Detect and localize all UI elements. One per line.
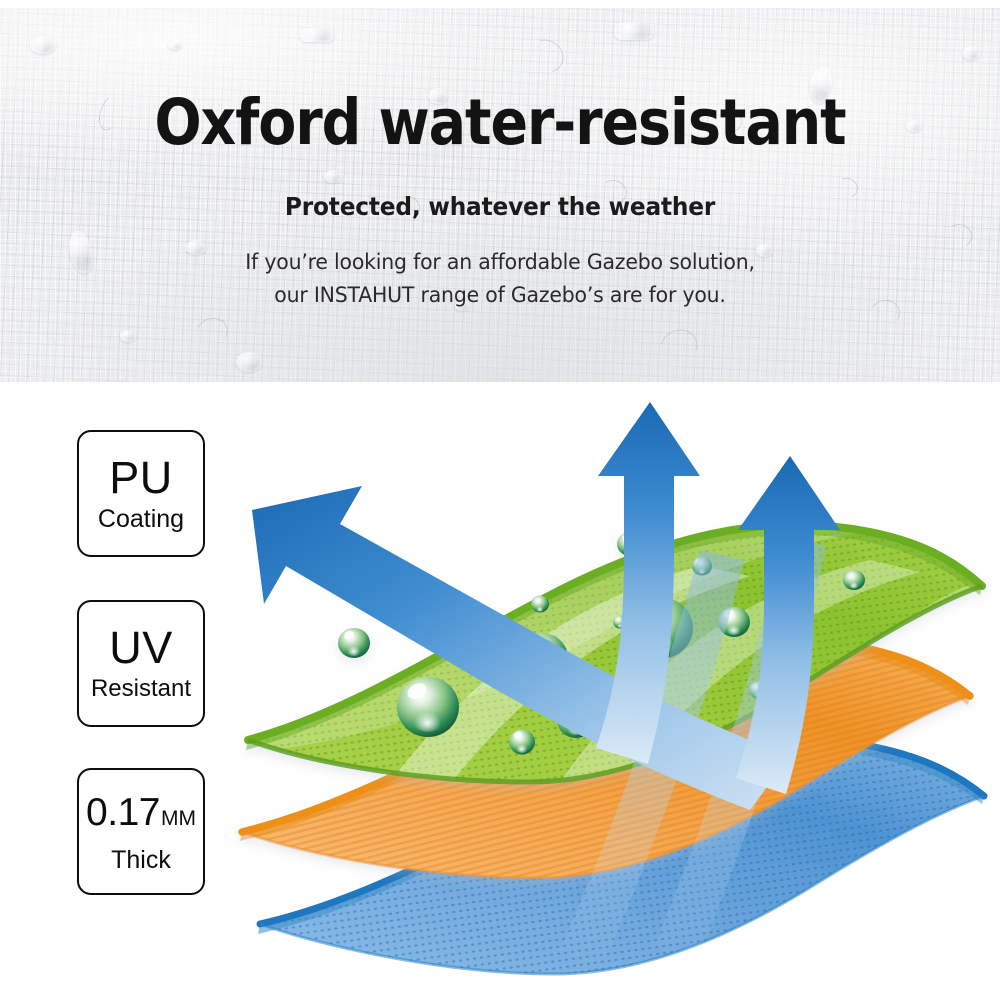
badge-value: UV — [109, 624, 173, 672]
badge-value: 0.17 — [86, 789, 160, 837]
feature-badge-thickness[interactable]: 0.17MM Thick — [77, 768, 205, 895]
page-body-copy: If you’re looking for an affordable Gaze… — [25, 246, 975, 312]
water-droplet-icon — [962, 46, 980, 60]
feature-badge-pu-coating[interactable]: PU Coating — [77, 430, 205, 557]
body-line-1: If you’re looking for an affordable Gaze… — [25, 246, 975, 279]
water-droplet-icon — [236, 352, 262, 372]
badge-unit: MM — [161, 795, 196, 843]
badge-sub-text: Coating — [98, 504, 184, 534]
badge-sub-text: Resistant — [91, 674, 191, 704]
water-droplet-icon — [324, 170, 342, 183]
fabric-layers-illustration — [230, 390, 1000, 1000]
water-droplet-icon — [509, 730, 535, 755]
water-droplet-icon — [338, 628, 370, 658]
badge-sub-text: Thick — [111, 845, 171, 875]
header-banner: Oxford water-resistant Protected, whatev… — [0, 0, 1000, 382]
top-white-strip — [0, 0, 1000, 8]
water-droplet-icon — [843, 570, 865, 590]
page-title: Oxford water-resistant — [60, 86, 940, 159]
water-droplet-icon — [300, 28, 334, 42]
badge-main-text: PU — [109, 454, 173, 502]
water-droplet-icon — [168, 40, 182, 50]
page-subtitle: Protected, whatever the weather — [35, 192, 965, 221]
water-droplet-icon — [397, 677, 459, 737]
feature-badge-uv-resistant[interactable]: UV Resistant — [77, 600, 205, 727]
water-droplet-icon — [120, 330, 136, 342]
body-line-2: our INSTAHUT range of Gazebo’s are for y… — [25, 279, 975, 312]
badge-value: PU — [109, 454, 173, 502]
water-droplet-icon — [614, 22, 654, 40]
badge-main-text: UV — [109, 624, 173, 672]
water-droplet-icon — [531, 596, 549, 613]
water-droplet-icon — [30, 36, 56, 54]
badge-main-text: 0.17MM — [86, 789, 196, 843]
